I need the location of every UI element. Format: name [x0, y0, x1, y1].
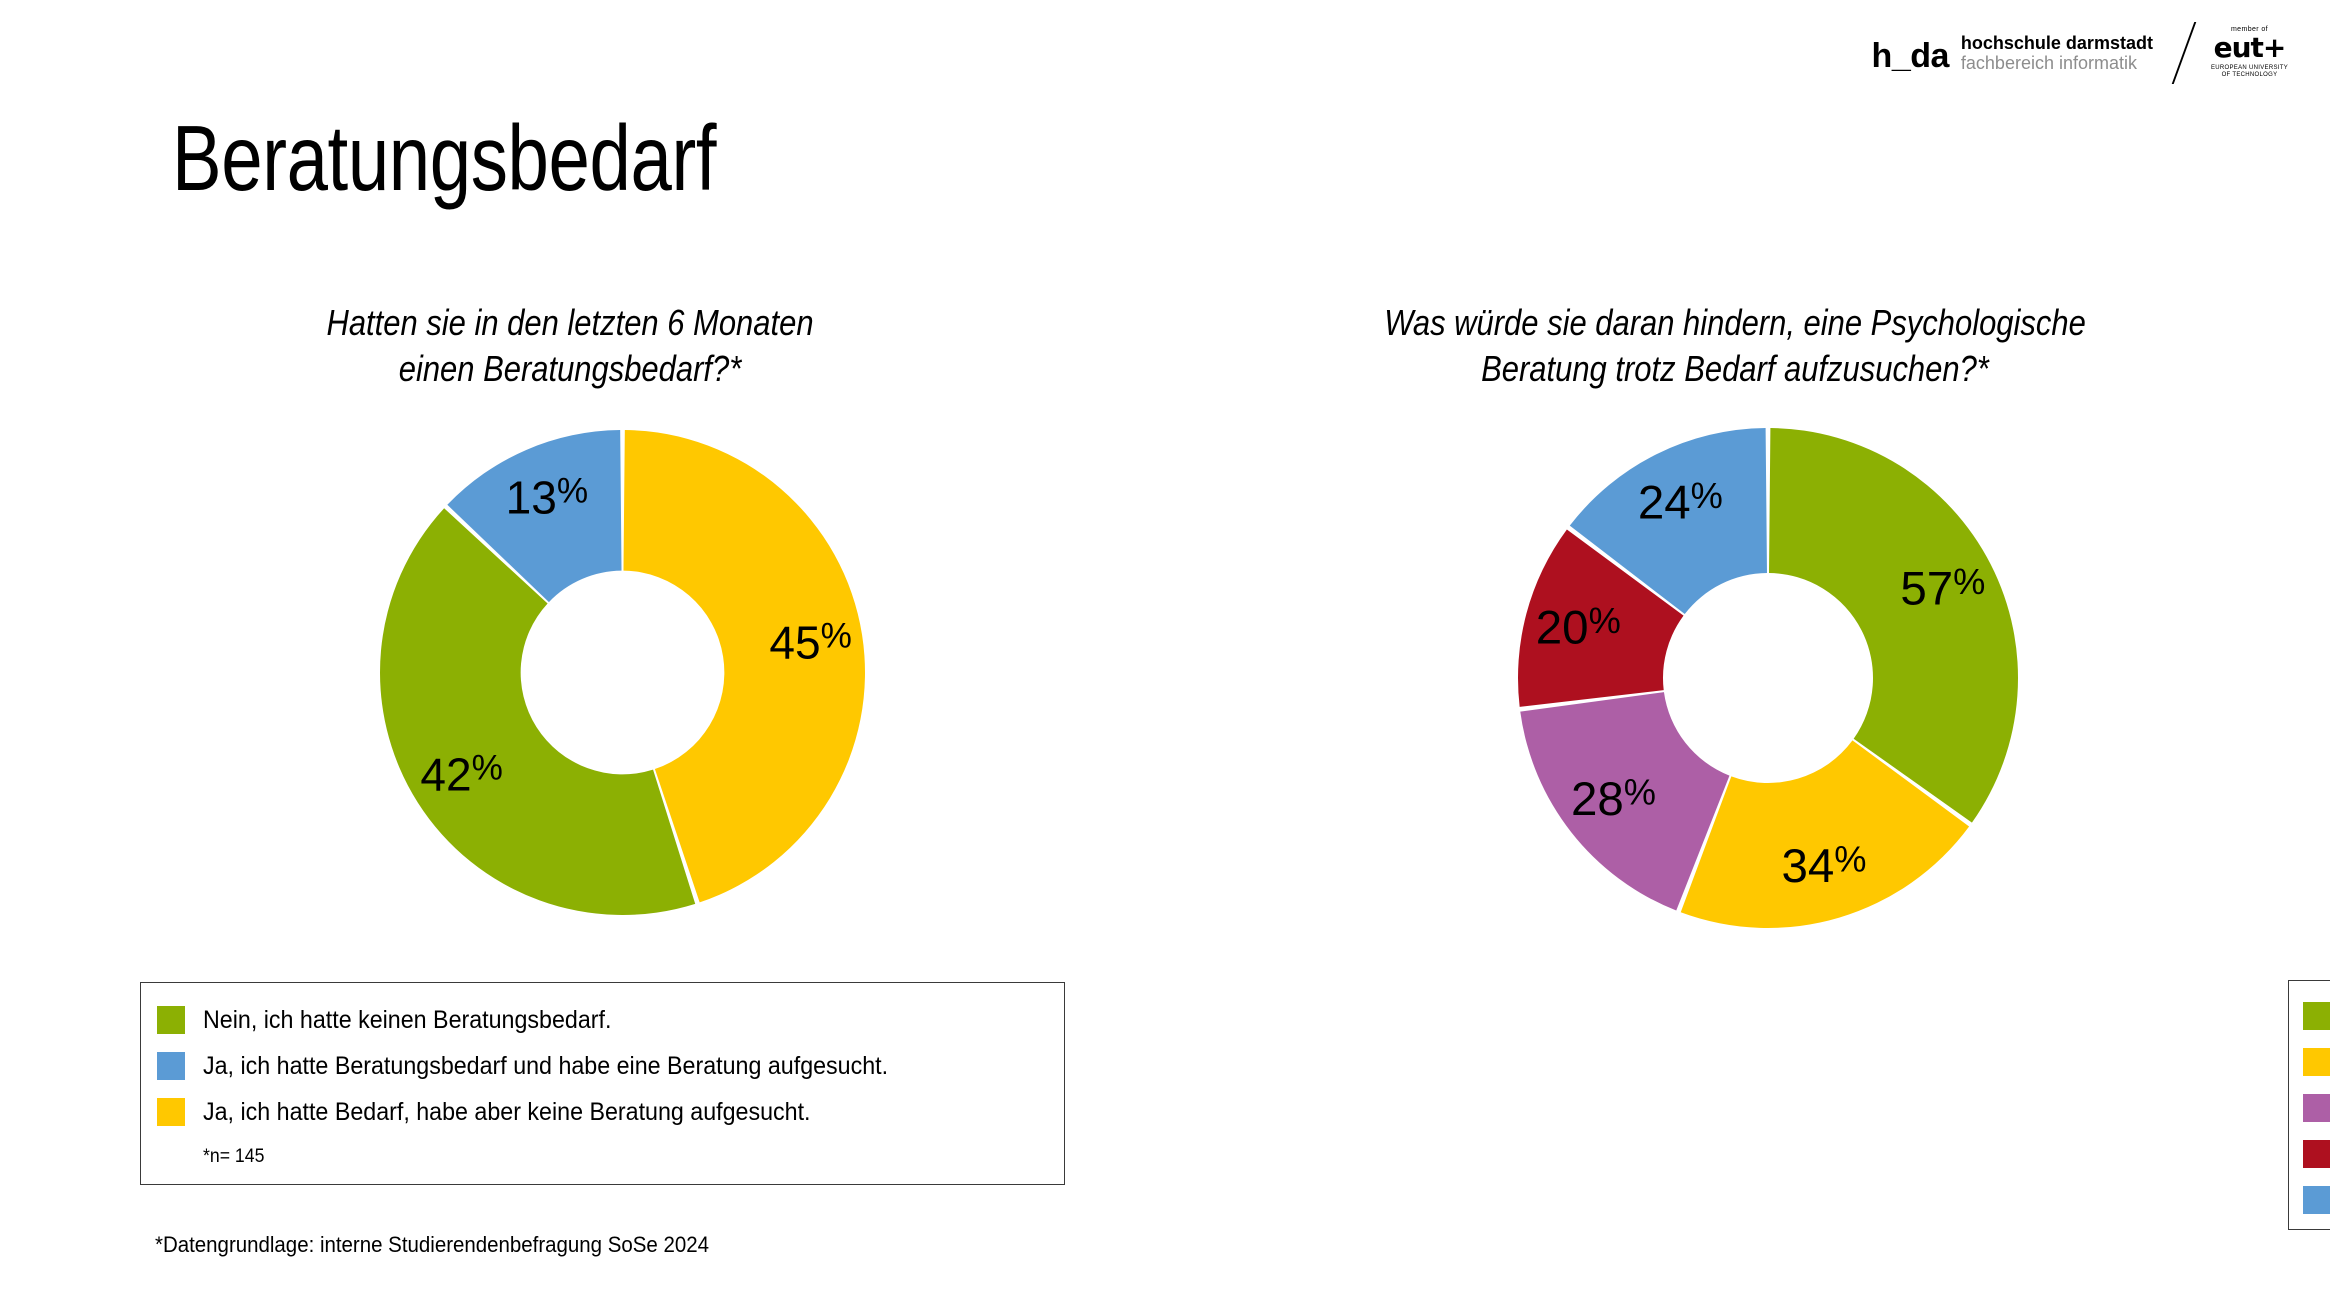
- legend-item: Ich wüsste nicht, an wen ich mich wenden…: [2303, 1085, 2330, 1131]
- legend-item-label: Ja, ich hatte Bedarf, habe aber keine Be…: [203, 1100, 811, 1125]
- donut-slices-right: [1518, 428, 2018, 928]
- legend-item: Ich habe Sorge, als „krank“ abgestempelt…: [2303, 1131, 2330, 1177]
- legend-item: Ich habe keine Schwierigkeiten, eine psy…: [2303, 1177, 2330, 1223]
- chart-title-left-line1: Hatten sie in den letzten 6 Monaten: [80, 300, 1060, 346]
- legend-item: Ja, ich hatte Bedarf, habe aber keine Be…: [157, 1089, 1064, 1135]
- legend-color-swatch: [157, 1052, 185, 1080]
- source-note: *Datengrundlage: interne Studierendenbef…: [155, 1232, 709, 1258]
- legend-color-swatch: [2303, 1048, 2330, 1076]
- legend-color-swatch: [157, 1098, 185, 1126]
- legend-item: Ich habe keine Zeit.: [2303, 1039, 2330, 1085]
- donut-chart-hindernisse: 57%34%28%20%24%: [1518, 428, 2018, 928]
- legend-color-swatch: [2303, 1002, 2330, 1030]
- chart-title-left: Hatten sie in den letzten 6 Monaten eine…: [80, 300, 1060, 392]
- chart-title-right-line1: Was würde sie daran hindern, eine Psycho…: [1223, 300, 2246, 346]
- donut-chart-left-svg: 45%42%13%: [380, 430, 865, 915]
- legend-left-rows: Nein, ich hatte keinen Beratungsbedarf.J…: [141, 983, 1064, 1135]
- legend-color-swatch: [2303, 1094, 2330, 1122]
- donut-chart-right-svg: 57%34%28%20%24%: [1518, 428, 2018, 928]
- chart-panel-left: Hatten sie in den letzten 6 Monaten eine…: [0, 0, 1140, 1303]
- legend-color-swatch: [2303, 1186, 2330, 1214]
- legend-item: Meine Probleme erscheinen mir nicht grav…: [2303, 993, 2330, 1039]
- legend-left: Nein, ich hatte keinen Beratungsbedarf.J…: [140, 982, 1065, 1185]
- chart-panel-right: Was würde sie daran hindern, eine Psycho…: [1140, 0, 2330, 1303]
- legend-item-label: Ja, ich hatte Beratungsbedarf und habe e…: [203, 1054, 888, 1079]
- legend-right-rows: Meine Probleme erscheinen mir nicht grav…: [2289, 981, 2330, 1223]
- legend-item-label: Nein, ich hatte keinen Beratungsbedarf.: [203, 1008, 611, 1033]
- donut-chart-beratungsbedarf: 45%42%13%: [380, 430, 865, 915]
- legend-left-note: *n= 145: [203, 1146, 1004, 1168]
- legend-right: Meine Probleme erscheinen mir nicht grav…: [2288, 980, 2330, 1230]
- chart-title-left-line2: einen Beratungsbedarf?*: [80, 346, 1060, 392]
- chart-title-right: Was würde sie daran hindern, eine Psycho…: [1223, 300, 2246, 392]
- chart-title-right-line2: Beratung trotz Bedarf aufzusuchen?*: [1223, 346, 2246, 392]
- legend-item: Nein, ich hatte keinen Beratungsbedarf.: [157, 997, 1064, 1043]
- legend-item: Ja, ich hatte Beratungsbedarf und habe e…: [157, 1043, 1064, 1089]
- legend-color-swatch: [157, 1006, 185, 1034]
- donut-slices-left: [380, 430, 865, 915]
- legend-color-swatch: [2303, 1140, 2330, 1168]
- donut-slice: [1769, 428, 2018, 823]
